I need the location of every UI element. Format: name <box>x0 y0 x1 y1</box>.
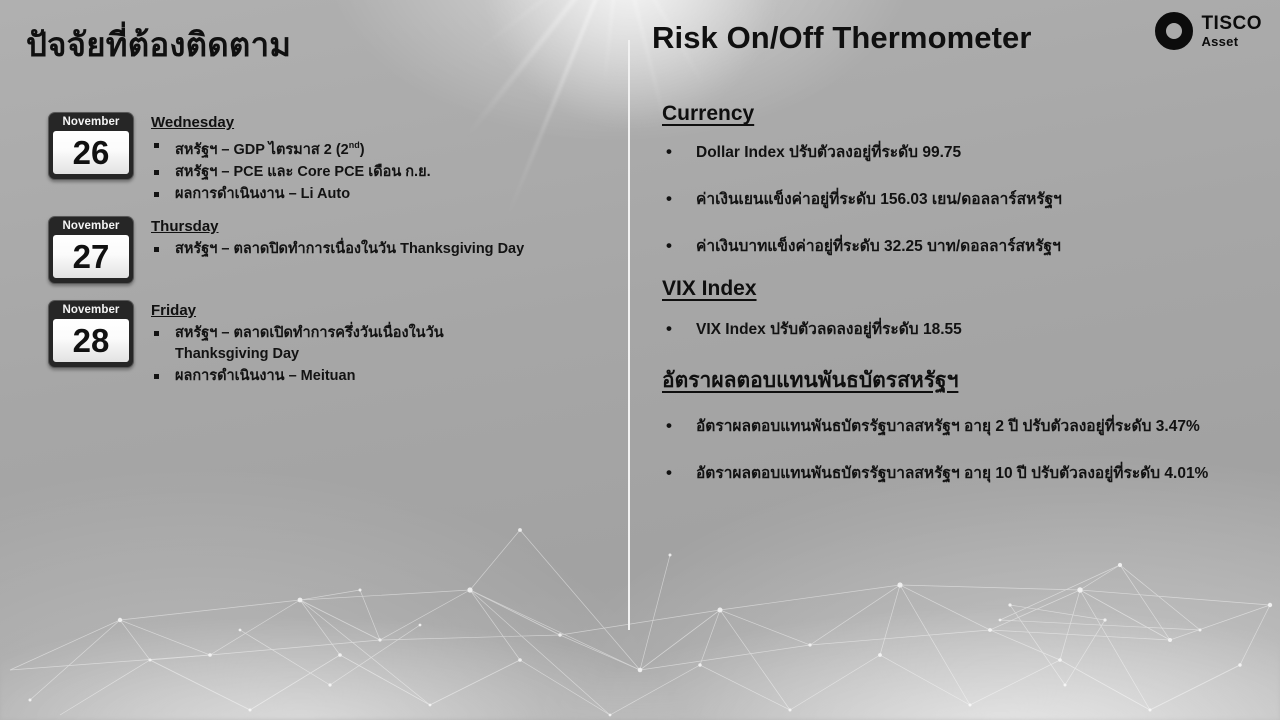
calendar-icon-26: November 26 <box>48 112 134 180</box>
left-panel-title: ปัจจัยที่ต้องติดตาม <box>26 18 291 71</box>
list-item: อัตราผลตอบแทนพันธบัตรรัฐบาลสหรัฐฯ อายุ 2… <box>662 414 1247 439</box>
weekday-label: Wednesday <box>151 114 234 131</box>
calendar-month-label: November <box>49 217 133 235</box>
calendar-day-number: 27 <box>53 235 129 278</box>
logo-subname: Asset <box>1201 35 1262 48</box>
ordinal-suffix: nd <box>349 140 360 150</box>
calendar-icon-28: November 28 <box>48 300 134 368</box>
day-content: Thursday สหรัฐฯ – ตลาดปิดทำการเนื่องในวั… <box>151 216 524 261</box>
list-item: สหรัฐฯ – PCE และ Core PCE เดือน ก.ย. <box>151 162 431 183</box>
event-text-tail: ) <box>360 142 365 158</box>
list-item: ค่าเงินบาทแข็งค่าอยู่ที่ระดับ 32.25 บาท/… <box>662 234 1062 259</box>
section-heading: Currency <box>662 102 754 126</box>
day-content: Wednesday สหรัฐฯ – GDP ไตรมาส 2 (2nd) สห… <box>151 112 431 206</box>
calendar-icon-27: November 27 <box>48 216 134 284</box>
day-block-wednesday: November 26 Wednesday สหรัฐฯ – GDP ไตรมา… <box>48 112 431 206</box>
list-item: สหรัฐฯ – ตลาดปิดทำการเนื่องในวัน Thanksg… <box>151 239 524 260</box>
day-block-friday: November 28 Friday สหรัฐฯ – ตลาดเปิดทำกา… <box>48 300 481 388</box>
list-item: VIX Index ปรับตัวลดลงอยู่ที่ระดับ 18.55 <box>662 317 962 342</box>
section-heading: อัตราผลตอบแทนพันธบัตรสหรัฐฯ <box>662 364 958 397</box>
event-list: สหรัฐฯ – GDP ไตรมาส 2 (2nd) สหรัฐฯ – PCE… <box>151 135 431 205</box>
section-currency: Currency Dollar Index ปรับตัวลงอยู่ที่ระ… <box>662 102 1062 259</box>
bottom-haze <box>0 510 1280 720</box>
weekday-label: Friday <box>151 302 196 319</box>
day-content: Friday สหรัฐฯ – ตลาดเปิดทำการครึ่งวันเนื… <box>151 300 481 388</box>
slide-canvas: ปัจจัยที่ต้องติดตาม November 26 Wednesda… <box>0 0 1280 720</box>
section-us-bond-yield: อัตราผลตอบแทนพันธบัตรสหรัฐฯ อัตราผลตอบแท… <box>662 364 1247 486</box>
logo-wordmark: TISCO Asset <box>1201 14 1262 48</box>
tisco-asset-logo: TISCO Asset <box>1155 12 1262 50</box>
section-vix: VIX Index VIX Index ปรับตัวลดลงอยู่ที่ระ… <box>662 277 962 342</box>
day-block-thursday: November 27 Thursday สหรัฐฯ – ตลาดปิดทำก… <box>48 216 524 284</box>
section-heading: VIX Index <box>662 277 757 301</box>
calendar-day-number: 28 <box>53 319 129 362</box>
list-item: สหรัฐฯ – ตลาดเปิดทำการครึ่งวันเนื่องในวั… <box>151 323 481 365</box>
list-item: ผลการดำเนินงาน – Meituan <box>151 366 481 387</box>
event-list: สหรัฐฯ – ตลาดปิดทำการเนื่องในวัน Thanksg… <box>151 239 524 260</box>
tisco-ring-icon <box>1155 12 1193 50</box>
logo-name: TISCO <box>1201 14 1262 33</box>
bullet-list: อัตราผลตอบแทนพันธบัตรรัฐบาลสหรัฐฯ อายุ 2… <box>662 414 1247 486</box>
panel-divider <box>628 40 630 630</box>
list-item: ผลการดำเนินงาน – Li Auto <box>151 184 431 205</box>
list-item: อัตราผลตอบแทนพันธบัตรรัฐบาลสหรัฐฯ อายุ 1… <box>662 461 1247 486</box>
list-item: ค่าเงินเยนแข็งค่าอยู่ที่ระดับ 156.03 เยน… <box>662 187 1062 212</box>
bullet-list: Dollar Index ปรับตัวลงอยู่ที่ระดับ 99.75… <box>662 140 1062 259</box>
list-item: Dollar Index ปรับตัวลงอยู่ที่ระดับ 99.75 <box>662 140 1062 165</box>
calendar-month-label: November <box>49 301 133 319</box>
weekday-label: Thursday <box>151 218 219 235</box>
event-text: สหรัฐฯ – GDP ไตรมาส 2 (2 <box>175 142 349 158</box>
calendar-month-label: November <box>49 113 133 131</box>
right-panel-title: Risk On/Off Thermometer <box>652 20 1032 56</box>
event-list: สหรัฐฯ – ตลาดเปิดทำการครึ่งวันเนื่องในวั… <box>151 323 481 387</box>
calendar-day-number: 26 <box>53 131 129 174</box>
bullet-list: VIX Index ปรับตัวลดลงอยู่ที่ระดับ 18.55 <box>662 317 962 342</box>
list-item: สหรัฐฯ – GDP ไตรมาส 2 (2nd) <box>151 135 431 161</box>
